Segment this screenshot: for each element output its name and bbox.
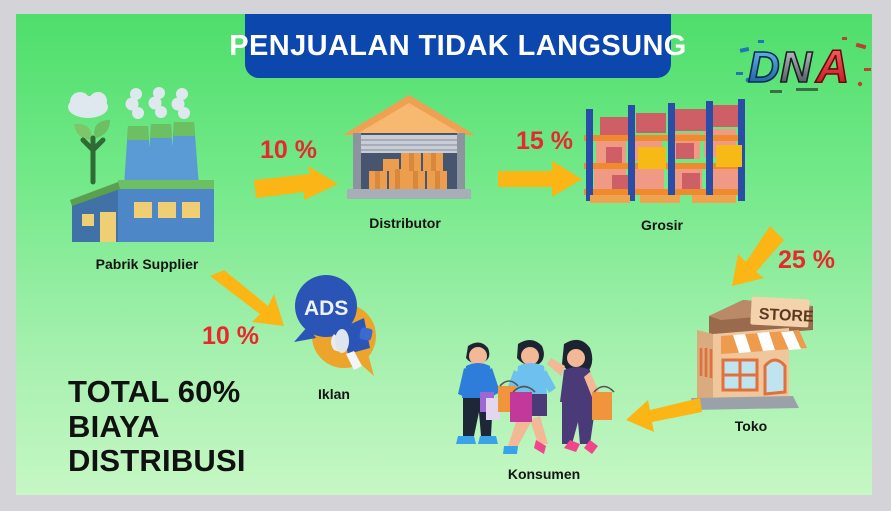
pallet-racking-icon <box>576 89 751 214</box>
infographic-slide: PENJUALAN TIDAK LANGSUNG <box>16 14 872 495</box>
arrow-pabrik-to-distributor <box>252 166 340 212</box>
svg-text:D: D <box>748 43 780 92</box>
node-label-iklan: Iklan <box>318 386 350 402</box>
node-grosir: Grosir <box>576 89 756 239</box>
percent-pabrik-to-iklan: 10 % <box>202 322 259 351</box>
shoppers-icon <box>436 336 621 461</box>
warehouse-icon <box>339 89 479 209</box>
svg-text:N: N <box>780 43 813 92</box>
node-label-toko: Toko <box>735 418 767 434</box>
node-distributor: Distributor <box>339 89 489 239</box>
title-banner: PENJUALAN TIDAK LANGSUNG <box>245 14 671 78</box>
node-label-grosir: Grosir <box>641 217 683 233</box>
node-label-distributor: Distributor <box>369 215 441 231</box>
node-konsumen: Konsumen <box>436 336 621 495</box>
total-line-2: BIAYA <box>68 410 246 445</box>
node-label-konsumen: Konsumen <box>508 466 580 482</box>
percent-distributor-to-grosir: 15 % <box>516 127 573 156</box>
percent-pabrik-to-distributor: 10 % <box>260 136 317 165</box>
store-icon: STORE <box>681 286 821 416</box>
total-line-3: DISTRIBUSI <box>68 444 246 479</box>
percent-grosir-to-toko: 25 % <box>778 246 835 275</box>
ads-text: ADS <box>304 297 348 320</box>
node-pabrik-supplier: Pabrik Supplier <box>52 80 242 280</box>
node-toko: STORE Toko <box>681 286 826 446</box>
arrow-toko-to-konsumen <box>624 392 702 440</box>
arrow-distributor-to-grosir <box>496 159 584 199</box>
total-distribution-cost: TOTAL 60% BIAYA DISTRIBUSI <box>68 375 246 479</box>
factory-icon <box>52 80 242 250</box>
page-title: PENJUALAN TIDAK LANGSUNG <box>229 30 687 63</box>
node-iklan: ADS Iklan <box>282 272 402 412</box>
ads-megaphone-icon: ADS <box>282 272 392 382</box>
store-sign-text: STORE <box>758 306 814 326</box>
svg-text:A: A <box>815 40 849 92</box>
total-line-1: TOTAL 60% <box>68 375 246 410</box>
node-label-pabrik: Pabrik Supplier <box>96 256 199 272</box>
